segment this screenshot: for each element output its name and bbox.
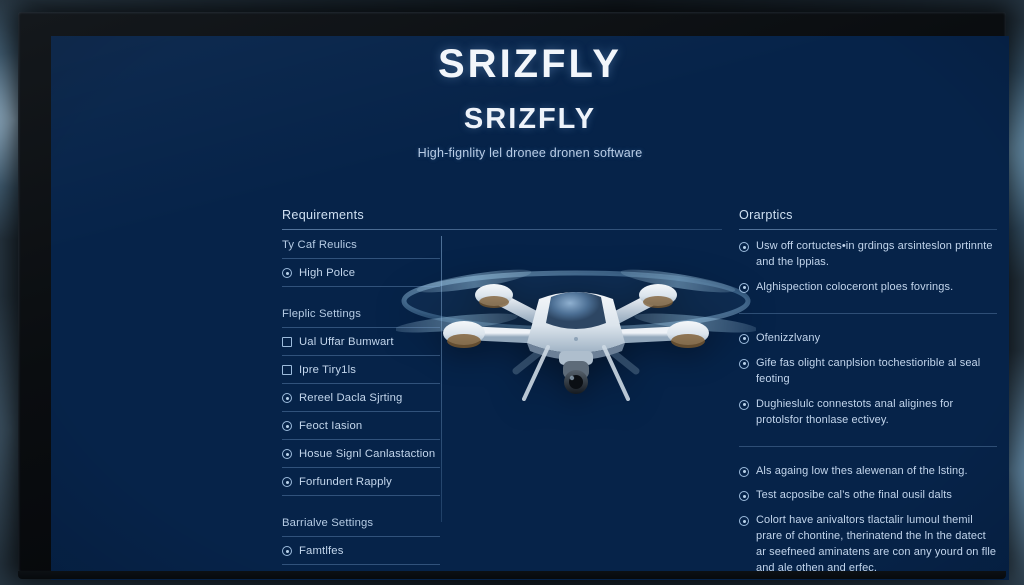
title-block: SRIZFLY SRIZFLY High-fignlity lel dronee… — [51, 42, 1009, 160]
requirements-title: Requirements — [282, 208, 722, 229]
checkbox-icon[interactable] — [282, 337, 292, 347]
list-item[interactable]: Rereel Dacla Sjrting — [282, 384, 440, 412]
feature-list-item-label: Usw off cortuctes•in grdings arsinteslon… — [756, 239, 997, 271]
feature-list-item[interactable]: Colort have anivaltors tlactalir lumoul … — [739, 513, 997, 577]
group-header-label: Fleplic Settings — [282, 308, 361, 320]
list-item-label: Famtlfes — [299, 545, 344, 557]
list-item-separator — [282, 495, 440, 496]
feature-list-item[interactable]: Dughieslulc connestots anal aligines for… — [739, 397, 997, 429]
feature-list-item-label: Alghispection coloceront ploes fovrings. — [756, 280, 953, 296]
radio-icon[interactable] — [282, 449, 292, 459]
list-item-label: Hosue Signl Canlastaction — [299, 448, 435, 460]
list-item-label: Ipre Tiry1ls — [299, 364, 356, 376]
feature-list-item[interactable]: Als againg low thes alewenan of the lsti… — [739, 464, 997, 480]
radio-icon[interactable] — [282, 477, 292, 487]
feature-list-item-label: Dughieslulc connestots anal aligines for… — [756, 397, 997, 429]
list-item-label: Feoct Iasion — [299, 420, 362, 432]
feature-list-item-label: Ofenizzlvany — [756, 331, 820, 347]
check-circle-icon — [739, 400, 749, 410]
feature-list-item[interactable]: Ofenizzlvany — [739, 331, 997, 347]
list-group-gap — [739, 314, 997, 322]
feature-list-item[interactable]: Alghispection coloceront ploes fovrings. — [739, 280, 997, 296]
feature-list-item-label: Colort have anivaltors tlactalir lumoul … — [756, 513, 997, 577]
list-group-header: Barrialve Settings — [282, 508, 440, 537]
list-group-gap — [739, 438, 997, 446]
list-item-separator — [282, 286, 440, 287]
orarptics-title: Orarptics — [739, 208, 997, 229]
feature-list-item-label: Test acposibe cal’s othe final ousil dal… — [756, 488, 952, 504]
list-group-header: Coflea violl — [282, 577, 440, 580]
list-group-gap — [282, 287, 722, 299]
list-group-gap — [739, 305, 997, 313]
list-item[interactable]: Feoct Iasion — [282, 412, 440, 440]
check-circle-icon — [739, 242, 749, 252]
list-group-gap — [282, 565, 722, 577]
check-circle-icon — [739, 467, 749, 477]
list-item[interactable]: Famtlfes — [282, 537, 440, 565]
brand-subtitle: SRIZFLY — [51, 103, 1009, 136]
check-circle-icon — [739, 491, 749, 501]
orarptics-list: Usw off cortuctes•in grdings arsinteslon… — [739, 239, 997, 577]
requirements-panel: Requirements Ty Caf ReulicsHigh PolceFle… — [282, 208, 722, 580]
list-item[interactable]: High Polce — [282, 259, 440, 287]
checkbox-icon[interactable] — [282, 365, 292, 375]
list-item-separator — [282, 564, 440, 565]
check-circle-icon — [739, 283, 749, 293]
radio-icon[interactable] — [282, 268, 292, 278]
feature-list-item[interactable]: Gife fas olight canplsion tochestiorible… — [739, 356, 997, 388]
list-group-header: Ty Caf Reulics — [282, 230, 440, 259]
group-header-label: Barrialve Settings — [282, 517, 373, 529]
list-item-label: Ual Uffar Bumwart — [299, 336, 394, 348]
check-circle-icon — [739, 334, 749, 344]
orarptics-divider — [739, 229, 997, 230]
list-group-gap — [282, 496, 722, 508]
application-screen: SRIZFLY SRIZFLY High-fignlity lel dronee… — [51, 36, 1009, 580]
radio-icon[interactable] — [282, 393, 292, 403]
monitor-bezel: SRIZFLY SRIZFLY High-fignlity lel dronee… — [18, 12, 1006, 573]
list-item-label: Rereel Dacla Sjrting — [299, 392, 402, 404]
list-item[interactable]: Ual Uffar Bumwart — [282, 328, 440, 356]
panel-vertical-divider — [441, 236, 442, 522]
feature-list-item-label: Gife fas olight canplsion tochestiorible… — [756, 356, 997, 388]
radio-icon[interactable] — [282, 546, 292, 556]
check-circle-icon — [739, 359, 749, 369]
feature-list-item[interactable]: Test acposibe cal’s othe final ousil dal… — [739, 488, 997, 504]
check-circle-icon — [739, 516, 749, 526]
list-item[interactable]: Forfundert Rapply — [282, 468, 440, 496]
brand-title: SRIZFLY — [51, 42, 1009, 87]
orarptics-panel: Orarptics Usw off cortuctes•in grdings a… — [739, 208, 997, 580]
feature-list-item[interactable]: Usw off cortuctes•in grdings arsinteslon… — [739, 239, 997, 271]
list-item-label: Forfundert Rapply — [299, 476, 392, 488]
list-item[interactable]: Hosue Signl Canlastaction — [282, 440, 440, 468]
list-item[interactable]: Ipre Tiry1ls — [282, 356, 440, 384]
tagline: High-fignlity lel dronee dronen software — [51, 146, 1009, 160]
group-header-label: Ty Caf Reulics — [282, 239, 357, 251]
feature-list-item-label: Als againg low thes alewenan of the lsti… — [756, 464, 968, 480]
radio-icon[interactable] — [282, 421, 292, 431]
requirements-list: Ty Caf ReulicsHigh PolceFleplic Settings… — [282, 230, 722, 580]
list-group-header: Fleplic Settings — [282, 299, 440, 328]
list-item-label: High Polce — [299, 267, 355, 279]
list-group-gap — [739, 447, 997, 455]
